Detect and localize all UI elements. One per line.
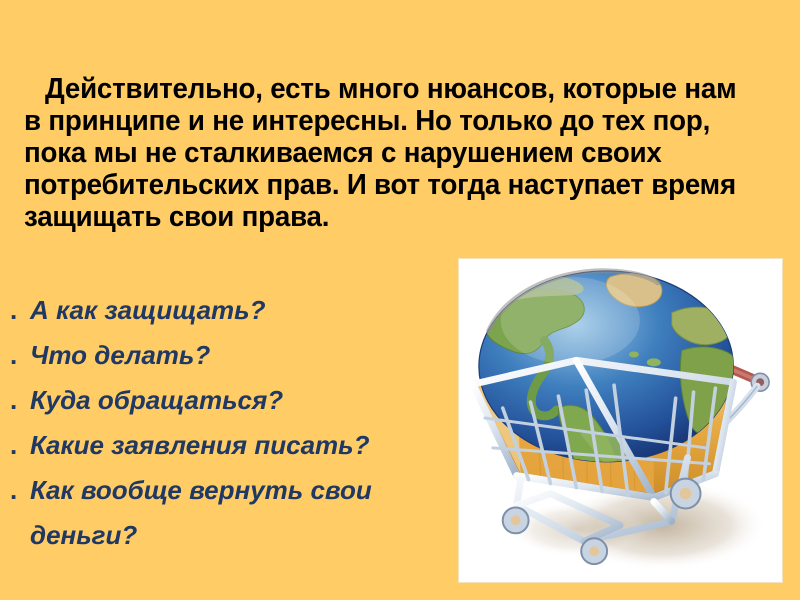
list-item-label: Какие заявления писать?: [30, 430, 369, 460]
slide-canvas: Действительно, есть много нюансов, котор…: [0, 0, 800, 600]
bullet-dot-icon: .: [10, 378, 17, 423]
list-item: . А как защищать?: [8, 288, 448, 333]
list-item: . Как вообще вернуть свои деньги?: [8, 468, 448, 558]
globe-in-shopping-cart-figure: [458, 258, 783, 583]
bullet-dot-icon: .: [10, 288, 17, 333]
list-item: . Какие заявления писать?: [8, 423, 448, 468]
list-item-label: Что делать?: [30, 340, 210, 370]
globe-in-shopping-cart-illustration: [459, 259, 782, 582]
list-item-label: А как защищать?: [30, 295, 266, 325]
question-list: . А как защищать? . Что делать? . Куда о…: [8, 288, 448, 558]
intro-paragraph: Действительно, есть много нюансов, котор…: [24, 73, 746, 233]
bullet-dot-icon: .: [10, 333, 17, 378]
list-item: . Что делать?: [8, 333, 448, 378]
bullet-dot-icon: .: [10, 423, 17, 468]
list-item-label: Как вообще вернуть свои деньги?: [30, 468, 418, 558]
list-item: . Куда обращаться?: [8, 378, 448, 423]
list-item-label: Куда обращаться?: [30, 385, 283, 415]
bullet-dot-icon: .: [10, 468, 17, 513]
